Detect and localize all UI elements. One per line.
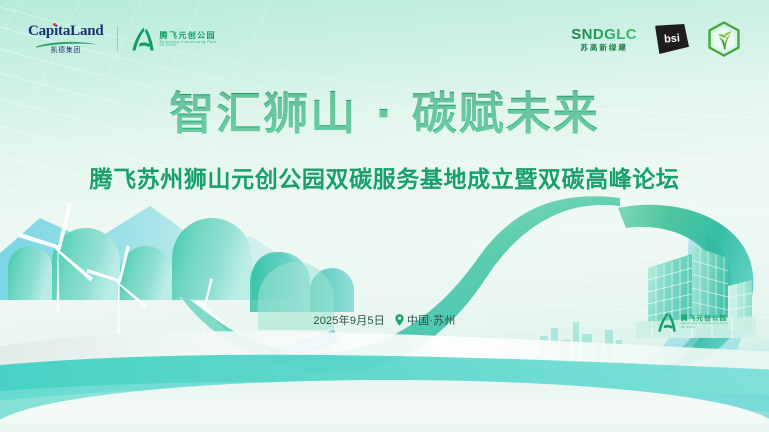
event-date: 2025年9月5日 [313,312,385,328]
green-building-hex-icon [707,21,741,57]
ascendas-english-sub: SU ZHOU [160,44,217,48]
sndglc-wordmark: SNDGLC [571,27,637,42]
sndglc-chinese: 苏高新绿建 [580,44,628,52]
event-banner: CapitaLand . 凯德集团 腾飞元创公园 Ascendas Yuanch… [0,0,769,432]
ascendas-logo: 腾飞元创公园 Ascendas Yuanchuang Park SU ZHOU [131,26,217,52]
location-pin-icon [395,314,404,326]
logo-bar: CapitaLand . 凯德集团 腾飞元创公园 Ascendas Yuanch… [0,0,769,78]
ascendas-text: 腾飞元创公园 Ascendas Yuanchuang Park SU ZHOU [160,31,217,48]
footer-ascendas-english-sub: SU ZHOU [681,326,728,329]
logo-divider [117,26,118,52]
sndglc-logo: SNDGLC 苏高新绿建 [571,27,637,52]
ascendas-a-mark-icon [657,311,677,333]
ascendas-chinese: 腾飞元创公园 [160,31,217,40]
event-meta: 2025年9月5日 中国·苏州 [0,312,769,328]
headline-block: 智汇狮山 · 碳赋未来 腾飞苏州狮山元创公园双碳服务基地成立暨双碳高峰论坛 [0,88,769,194]
event-location: 中国·苏州 [407,312,456,328]
capitaland-chinese: 凯德集团 [51,47,81,54]
logo-group-left: CapitaLand . 凯德集团 腾飞元创公园 Ascendas Yuanch… [28,24,217,54]
bsi-logo: bsi [655,24,689,54]
ascendas-a-mark-icon [131,26,155,52]
location-group: 中国·苏州 [395,312,456,328]
logo-group-right: SNDGLC 苏高新绿建 bsi [571,21,741,57]
capitaland-logo: CapitaLand . 凯德集团 [28,24,104,54]
footer-ascendas-logo: 腾飞元创公园 Ascendas Yuanchuang Park SU ZHOU [657,311,728,333]
capitaland-wordmark: CapitaLand [28,24,104,39]
footer-ascendas-text: 腾飞元创公园 Ascendas Yuanchuang Park SU ZHOU [681,315,728,329]
capitaland-dot-accent [53,23,56,26]
event-subtitle: 腾飞苏州狮山元创公园双碳服务基地成立暨双碳高峰论坛 [0,160,769,194]
event-title: 智汇狮山 · 碳赋未来 [0,88,769,140]
